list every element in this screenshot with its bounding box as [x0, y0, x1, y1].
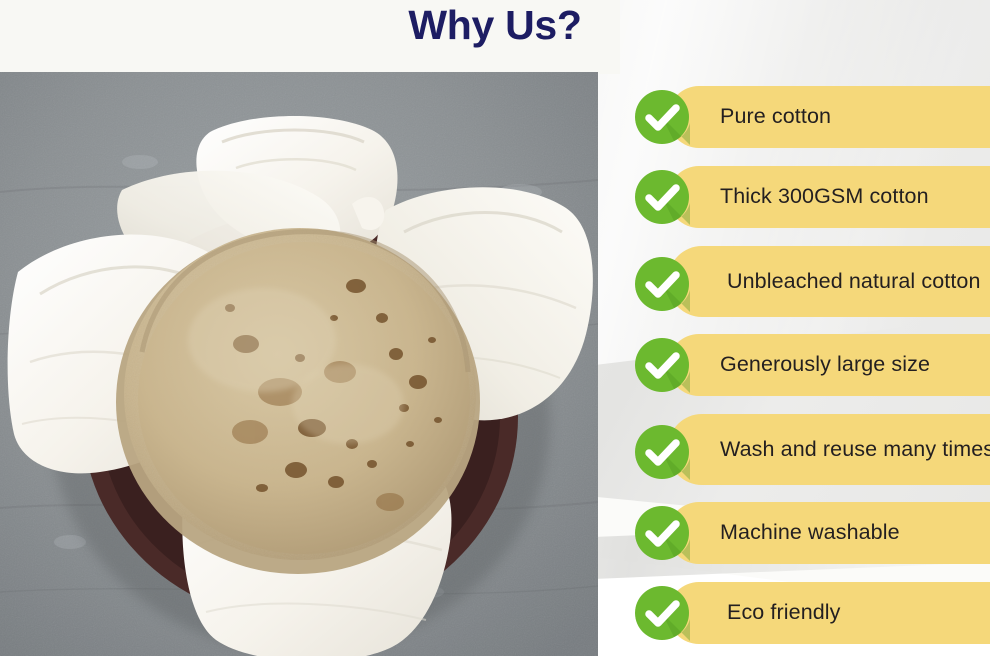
- page-title: Why Us?: [0, 2, 990, 49]
- feature-label: Unbleached natural cotton: [720, 269, 981, 294]
- check-icon: [634, 585, 690, 641]
- feature-label: Machine washable: [720, 520, 900, 545]
- check-icon: [634, 256, 690, 312]
- feature-label: Wash and reuse many times: [720, 437, 990, 462]
- feature-label: Thick 300GSM cotton: [720, 184, 929, 209]
- check-icon: [634, 337, 690, 393]
- product-photo: [0, 72, 598, 656]
- feature-list: Pure cotton Thick 300GSM cotton Unbleach…: [634, 86, 990, 656]
- feature-pill: Thick 300GSM cotton: [668, 166, 990, 228]
- product-photo-illustration: [0, 72, 598, 656]
- feature-label: Eco friendly: [720, 600, 841, 625]
- feature-label: Generously large size: [720, 352, 930, 377]
- feature-item-machine-washable[interactable]: Machine washable: [634, 502, 990, 564]
- feature-pill: Machine washable: [668, 502, 990, 564]
- feature-item-wash-reuse[interactable]: Wash and reuse many times: [634, 414, 990, 485]
- feature-item-unbleached-natural[interactable]: Unbleached natural cotton: [634, 246, 990, 317]
- feature-label: Pure cotton: [720, 104, 831, 129]
- check-icon: [634, 505, 690, 561]
- feature-pill: Pure cotton: [668, 86, 990, 148]
- check-icon: [634, 89, 690, 145]
- feature-item-large-size[interactable]: Generously large size: [634, 334, 990, 396]
- check-icon: [634, 424, 690, 480]
- check-icon: [634, 169, 690, 225]
- feature-item-pure-cotton[interactable]: Pure cotton: [634, 86, 990, 148]
- feature-pill: Wash and reuse many times: [668, 414, 990, 485]
- feature-pill: Unbleached natural cotton: [668, 246, 990, 317]
- feature-item-thick-300gsm[interactable]: Thick 300GSM cotton: [634, 166, 990, 228]
- feature-pill: Eco friendly: [668, 582, 990, 644]
- feature-pill: Generously large size: [668, 334, 990, 396]
- feature-item-eco-friendly[interactable]: Eco friendly: [634, 582, 990, 644]
- why-us-slide: Why Us?: [0, 0, 990, 656]
